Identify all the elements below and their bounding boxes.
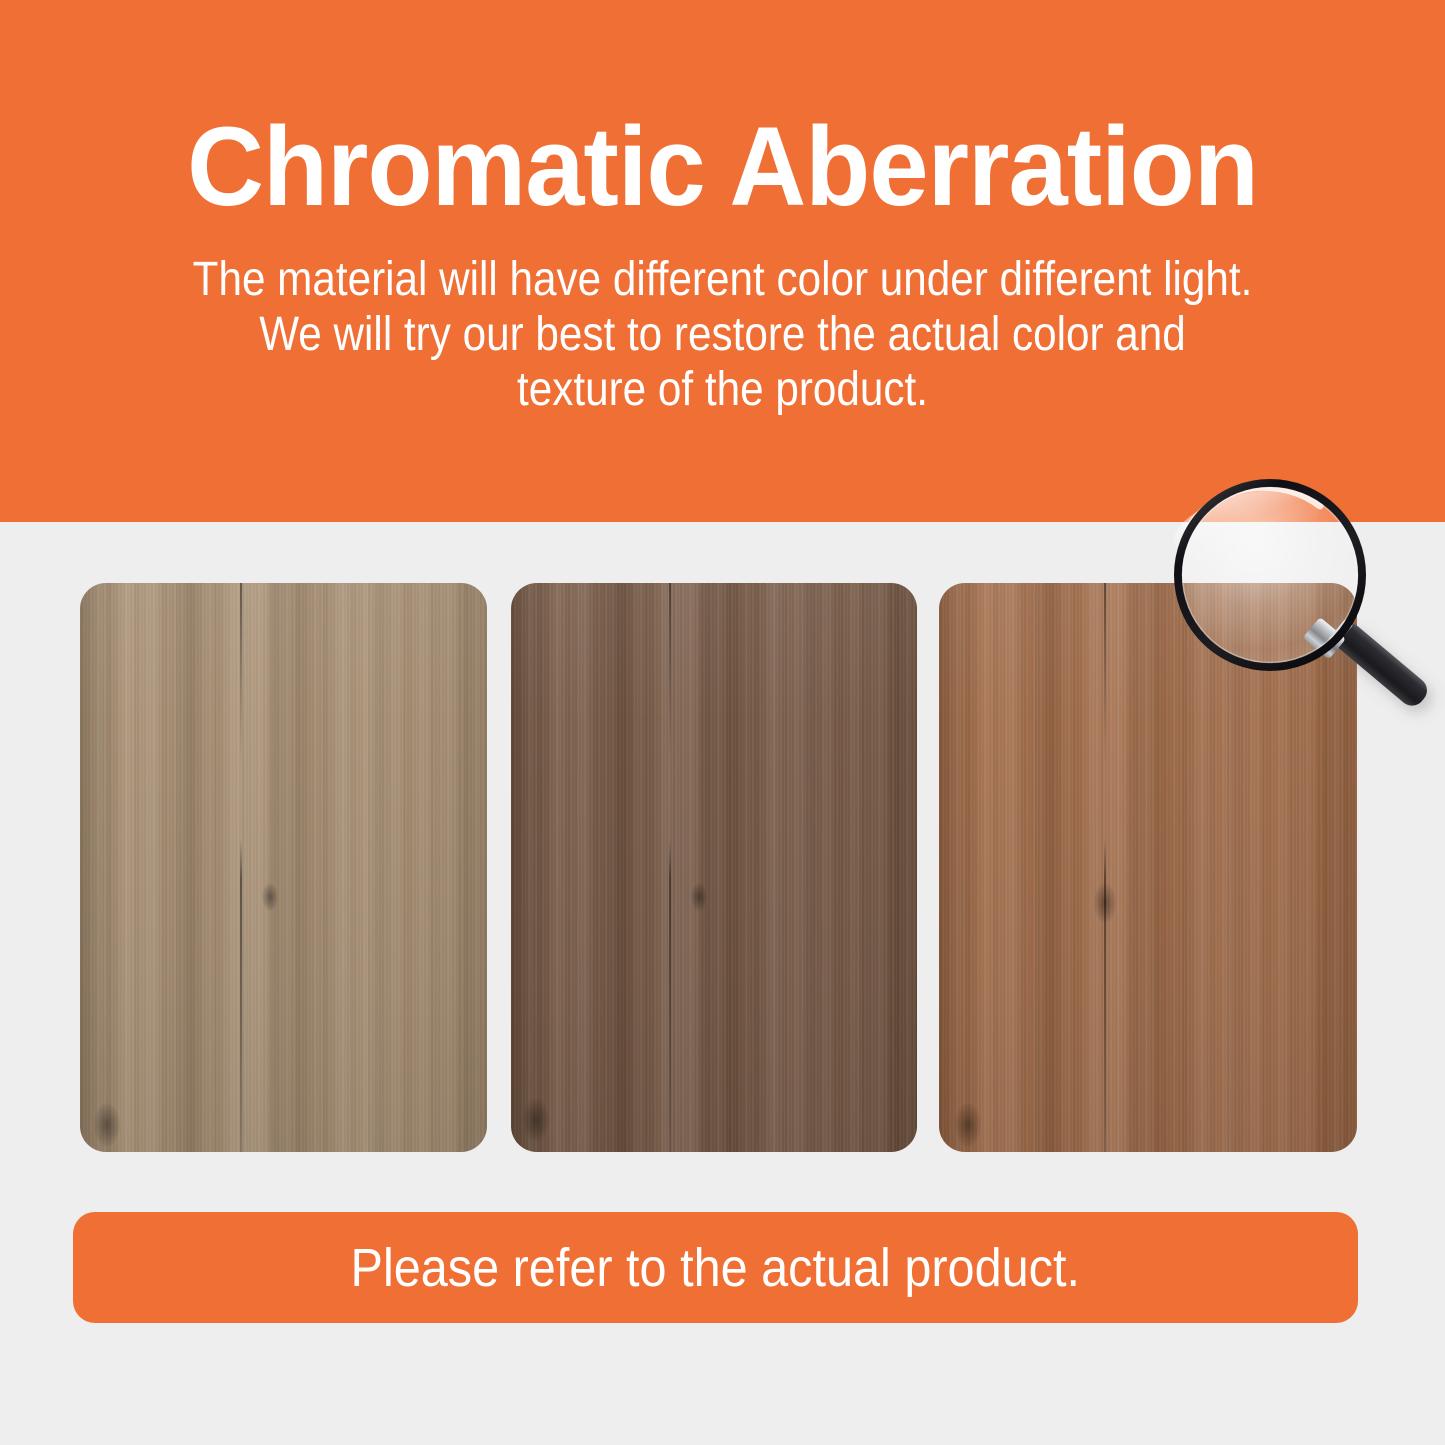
wood-knot bbox=[523, 1098, 549, 1142]
light-oak-swatch bbox=[80, 583, 487, 1152]
promo-graphic: Chromatic Aberration The material will h… bbox=[0, 0, 1445, 1445]
page-title: Chromatic Aberration bbox=[36, 108, 1409, 226]
header-subtitle: The material will have different color u… bbox=[184, 252, 1262, 417]
header-band: Chromatic Aberration The material will h… bbox=[0, 0, 1445, 522]
plank-seam bbox=[1104, 583, 1106, 1152]
wood-knot bbox=[94, 1103, 120, 1147]
wood-grain-texture bbox=[80, 583, 487, 1152]
wood-knot bbox=[262, 883, 278, 911]
wood-grain-texture bbox=[511, 583, 917, 1152]
red-cherry-swatch bbox=[939, 583, 1357, 1152]
subtitle-line-3: texture of the product. bbox=[184, 362, 1262, 417]
plank-seam bbox=[240, 583, 242, 1152]
wood-knot bbox=[955, 1103, 981, 1147]
bottom-banner-text: Please refer to the actual product. bbox=[351, 1238, 1080, 1298]
dark-walnut-swatch bbox=[511, 583, 917, 1152]
wood-grain-texture bbox=[939, 583, 1357, 1152]
bottom-banner: Please refer to the actual product. bbox=[73, 1212, 1358, 1323]
wood-knot bbox=[691, 883, 707, 911]
subtitle-line-1: The material will have different color u… bbox=[184, 252, 1262, 307]
subtitle-line-2: We will try our best to restore the actu… bbox=[184, 307, 1262, 362]
plank-seam bbox=[669, 583, 671, 1152]
wood-knot bbox=[1094, 883, 1116, 923]
